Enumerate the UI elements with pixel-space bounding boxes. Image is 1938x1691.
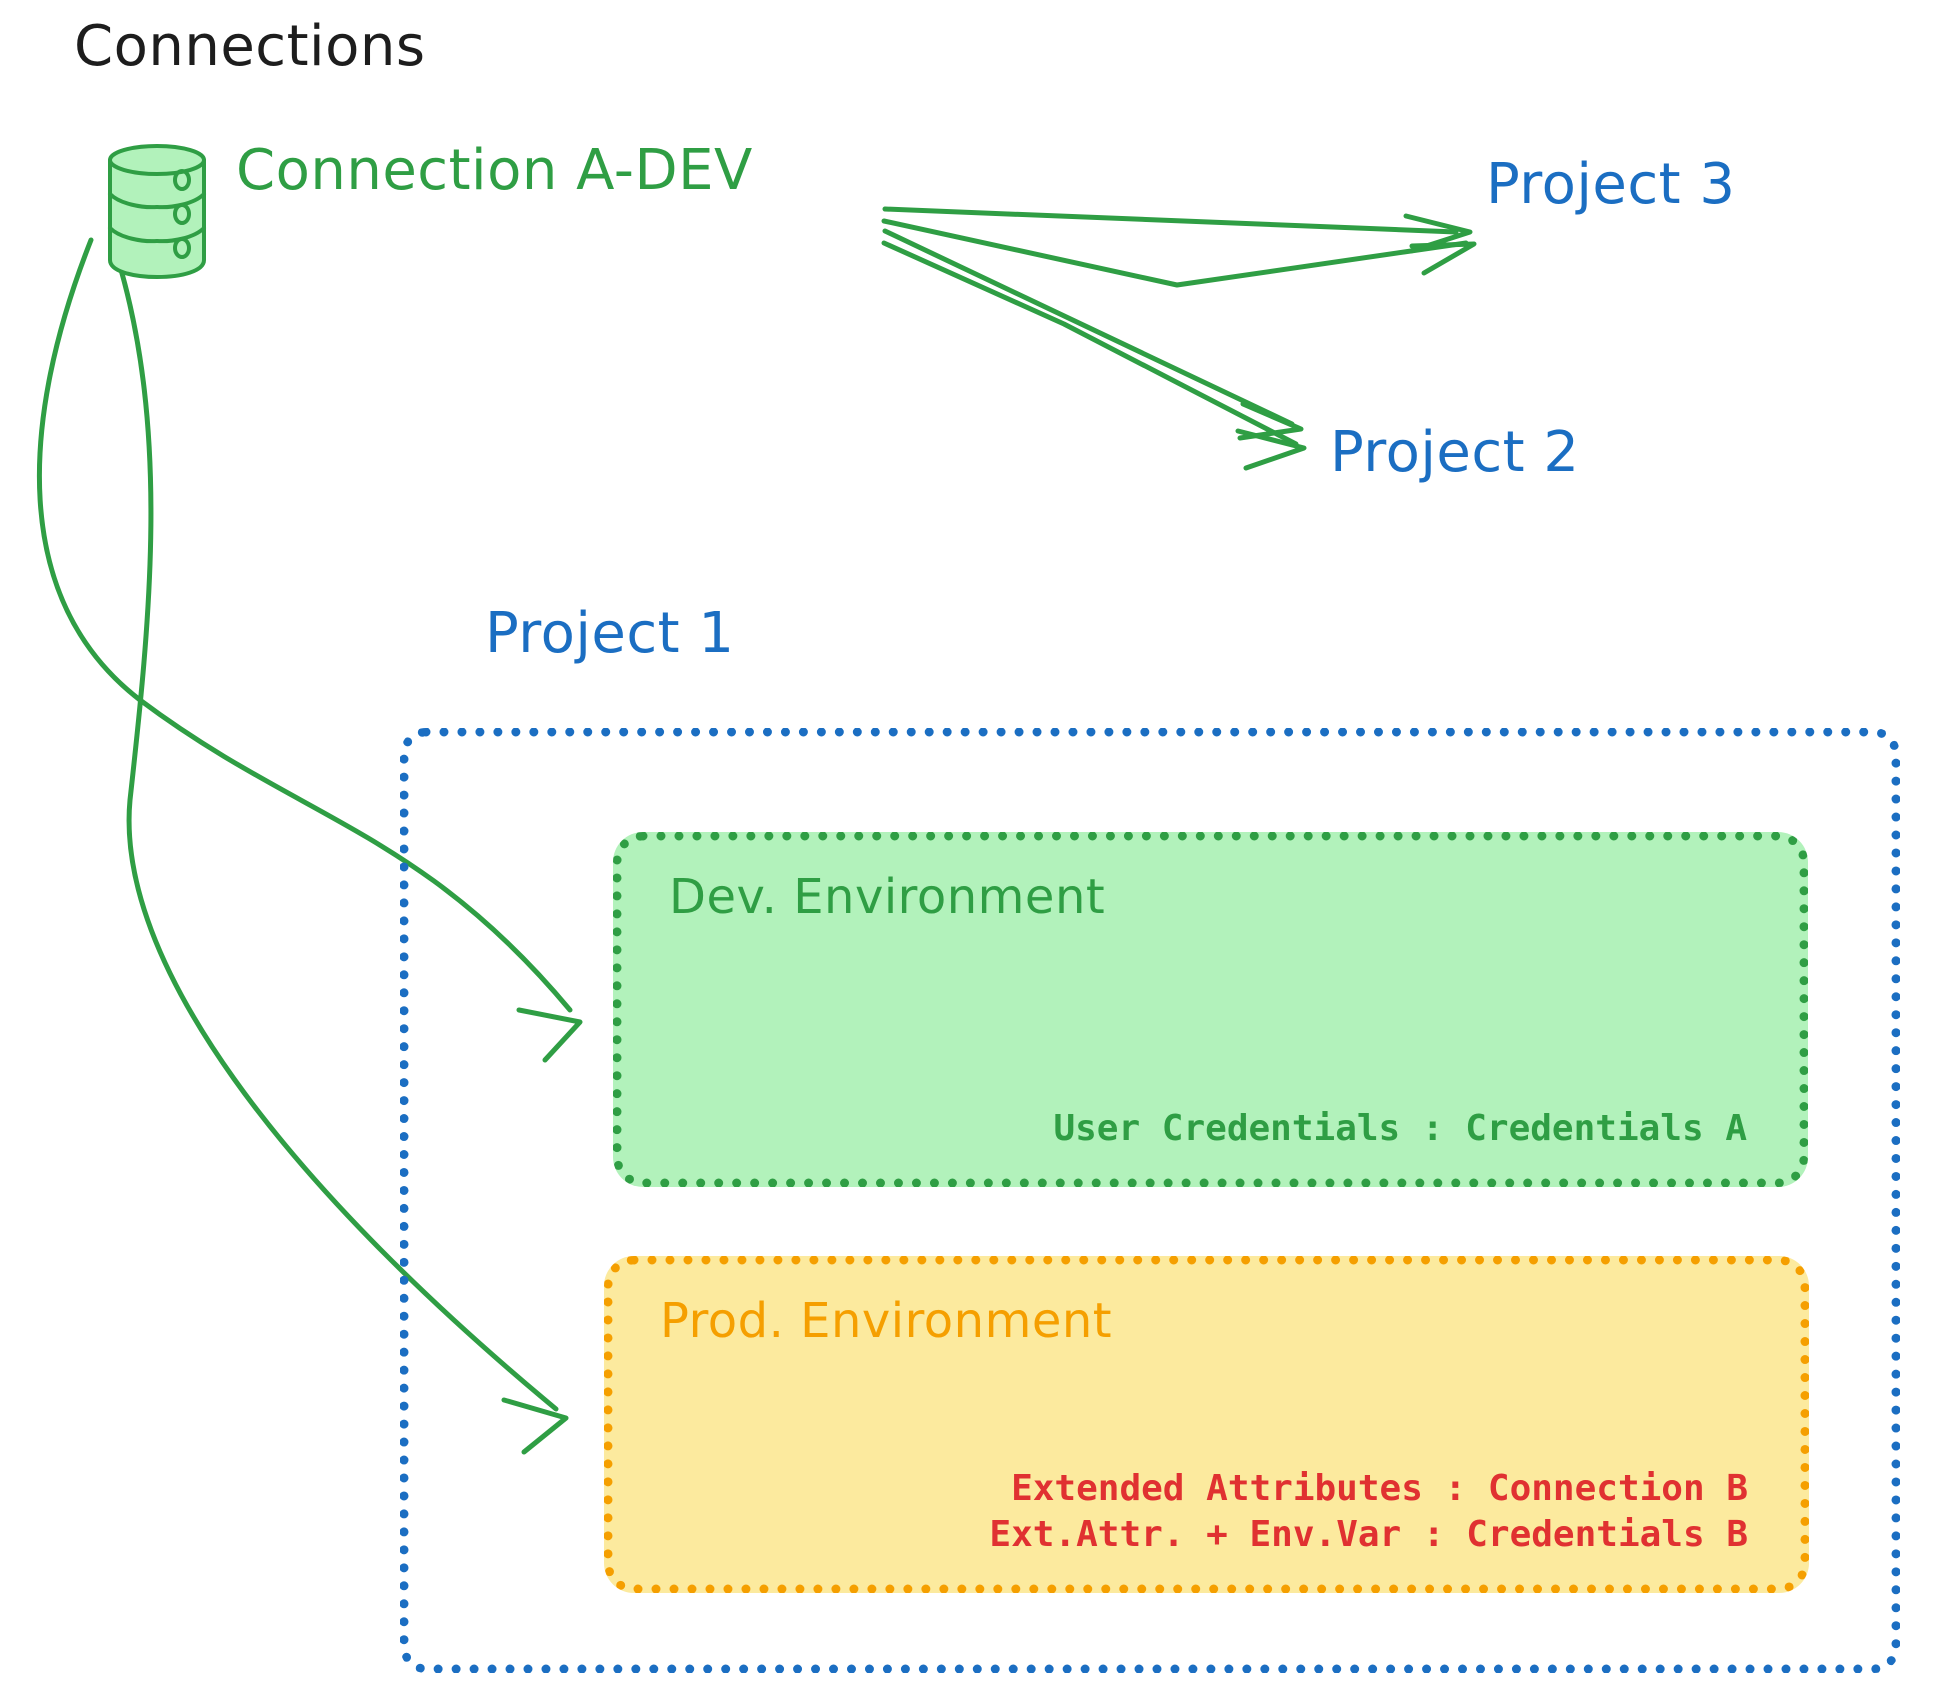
- connection-a-dev-label[interactable]: Connection A-DEV: [236, 138, 753, 203]
- edge-a-dev-to-project2-a: [885, 231, 1292, 424]
- edge-a-dev-to-project3-a: [885, 209, 1456, 232]
- dev-user-credentials-line: User Credentials : Credentials A: [1053, 1106, 1747, 1152]
- edge-a-dev-to-project3-b: [884, 221, 1466, 285]
- arrowhead-project2-b: [1238, 431, 1304, 468]
- dev-environment-attributes: User Credentials : Credentials A: [1053, 1106, 1747, 1152]
- prod-extended-attributes-line: Extended Attributes : Connection B: [989, 1466, 1748, 1512]
- arrowhead-project2-a: [1240, 404, 1301, 438]
- page-title: Connections: [74, 14, 426, 79]
- prod-environment-attributes: Extended Attributes : Connection B Ext.A…: [989, 1466, 1748, 1558]
- dev-environment-title: Dev. Environment: [669, 869, 1105, 925]
- prod-ext-attr-env-var-line: Ext.Attr. + Env.Var : Credentials B: [989, 1512, 1748, 1558]
- project-3-label[interactable]: Project 3: [1486, 152, 1736, 217]
- project-1-label[interactable]: Project 1: [485, 601, 735, 666]
- diagram-canvas: Connections Connection A-DEV Project 3 P…: [0, 0, 1938, 1691]
- prod-environment-title: Prod. Environment: [660, 1293, 1112, 1349]
- database-cylinder-icon: [102, 140, 212, 280]
- prod-environment-box[interactable]: Prod. Environment Extended Attributes : …: [604, 1256, 1809, 1593]
- dev-environment-box[interactable]: Dev. Environment User Credentials : Cred…: [613, 832, 1808, 1187]
- arrowhead-project3-a: [1406, 216, 1470, 251]
- arrowhead-project3-b: [1412, 244, 1474, 273]
- project-2-label[interactable]: Project 2: [1330, 420, 1580, 485]
- edge-a-dev-to-project2-b: [884, 243, 1296, 444]
